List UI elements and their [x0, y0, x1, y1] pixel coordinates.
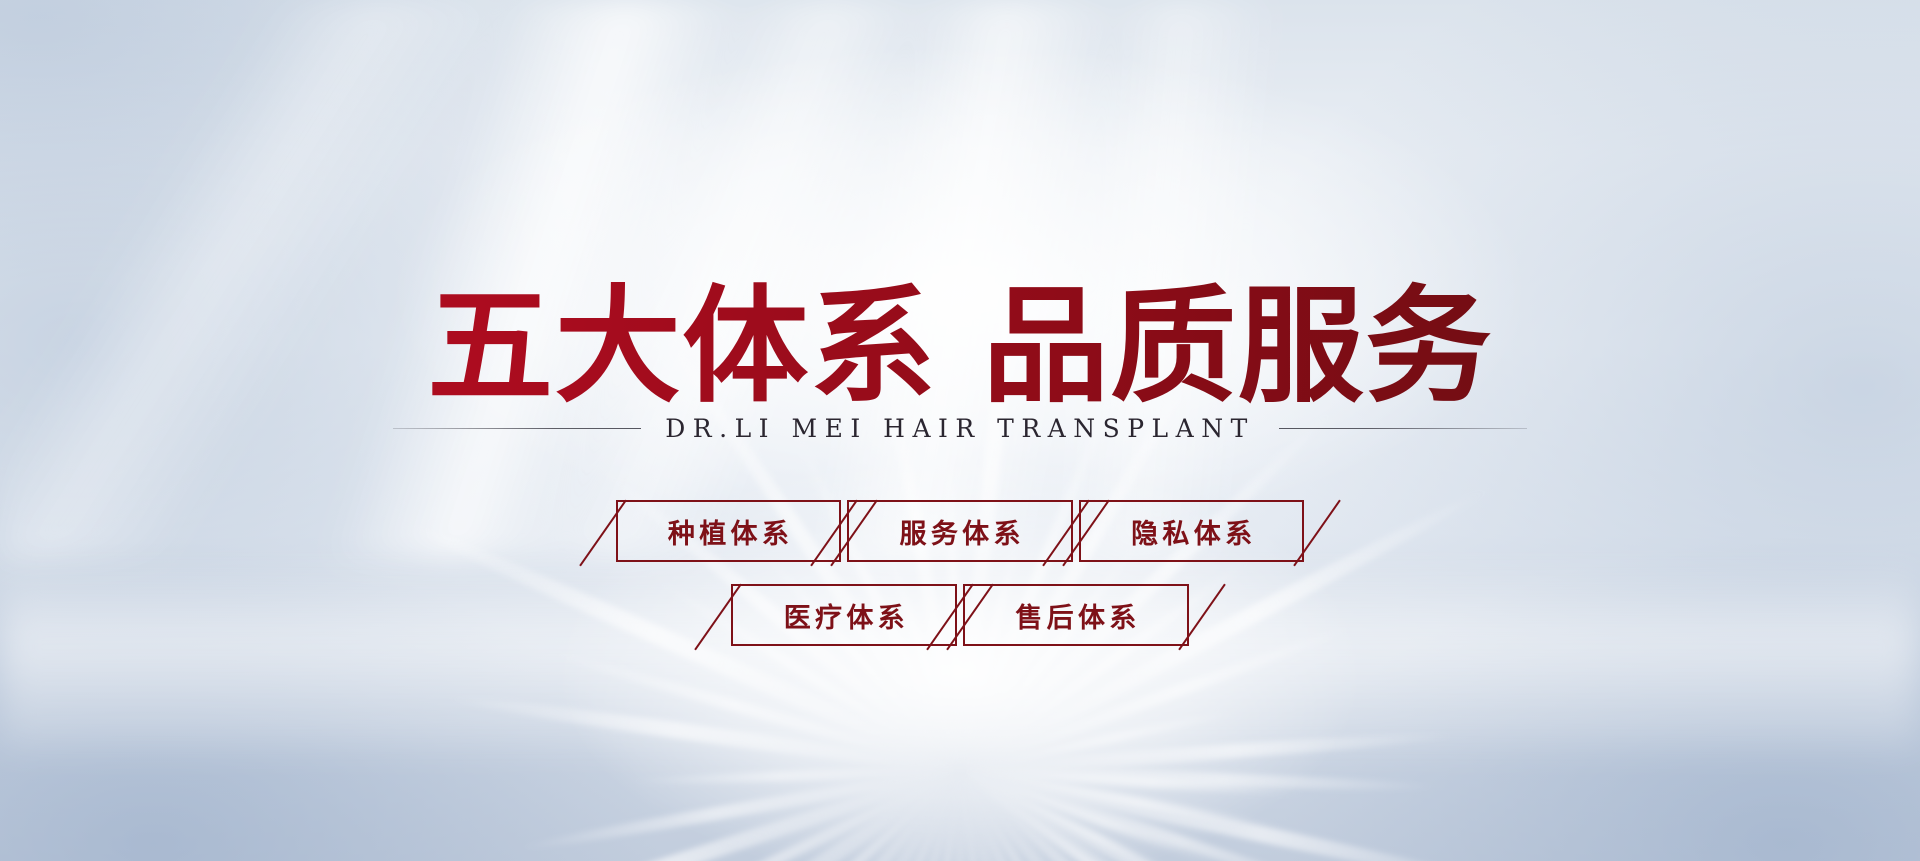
- service-tag[interactable]: 医疗体系: [731, 584, 957, 646]
- subtitle-rule-right: [1279, 428, 1527, 429]
- service-tag-label: 服务体系: [895, 512, 1025, 551]
- service-tag-row: 医疗体系售后体系: [0, 584, 1920, 646]
- subtitle-row: DR.LI MEI HAIR TRANSPLANT: [0, 414, 1920, 443]
- service-tag-label: 种植体系: [664, 512, 794, 551]
- slash-decoration-icon: [579, 500, 627, 567]
- service-tag-label: 售后体系: [1011, 596, 1141, 635]
- slash-decoration-icon: [1178, 584, 1226, 651]
- service-tag[interactable]: 隐私体系: [1079, 500, 1305, 562]
- service-tag[interactable]: 售后体系: [963, 584, 1189, 646]
- service-tag-group: 种植体系服务体系隐私体系医疗体系售后体系: [0, 500, 1920, 646]
- slash-decoration-icon: [1294, 500, 1342, 567]
- subtitle-rule-left: [393, 428, 641, 429]
- slash-decoration-icon: [695, 584, 743, 651]
- service-tag-label: 医疗体系: [779, 596, 909, 635]
- subtitle-text: DR.LI MEI HAIR TRANSPLANT: [665, 414, 1255, 443]
- service-tag[interactable]: 服务体系: [847, 500, 1073, 562]
- service-tag-row: 种植体系服务体系隐私体系: [0, 500, 1920, 562]
- service-tag[interactable]: 种植体系: [616, 500, 842, 562]
- promo-banner: 五大体系 品质服务 DR.LI MEI HAIR TRANSPLANT 种植体系…: [0, 0, 1920, 861]
- page-title: 五大体系 品质服务: [0, 270, 1920, 424]
- service-tag-label: 隐私体系: [1127, 512, 1257, 551]
